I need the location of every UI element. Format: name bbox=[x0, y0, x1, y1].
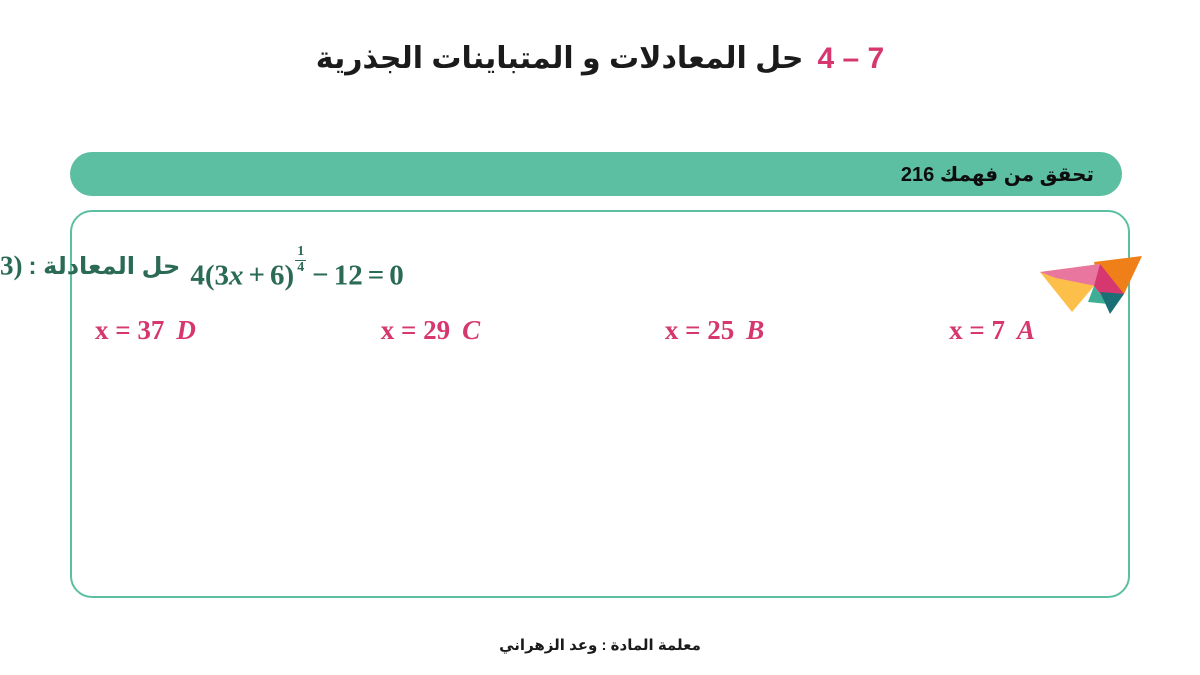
question-number: (3 bbox=[0, 250, 23, 280]
equation-variable: x bbox=[229, 259, 244, 291]
answer-choice-a-letter: A bbox=[1017, 315, 1035, 345]
answer-choice-a-value: x = 7 bbox=[949, 315, 1005, 345]
answer-choice-b-letter: B bbox=[746, 315, 764, 345]
equation-exponent-fraction: 14 bbox=[295, 245, 306, 275]
equation-close-paren: ) bbox=[285, 259, 295, 291]
question-equation: 4(3x+6)14−12=0 bbox=[190, 248, 403, 292]
page-title-text: حل المعادلات و المتباينات الجذرية bbox=[316, 42, 804, 75]
section-header-label: تحقق من فهمك 216 bbox=[901, 162, 1094, 187]
equation-constant: 12 bbox=[334, 259, 363, 291]
answer-choice-b-value: x = 25 bbox=[665, 315, 734, 345]
answer-choice-c[interactable]: x = 29C bbox=[381, 315, 480, 346]
answer-choice-c-value: x = 29 bbox=[381, 315, 450, 345]
answer-choice-a[interactable]: x = 7A bbox=[949, 315, 1035, 346]
answer-choice-d-value: x = 37 bbox=[95, 315, 164, 345]
chapter-number: 7 – 4 bbox=[817, 42, 884, 75]
page-title: 7 – 4حل المعادلات و المتباينات الجذرية bbox=[0, 40, 1200, 78]
question-line: 4(3x+6)14−12=0 حل المعادلة :(3 bbox=[0, 248, 1030, 292]
equation-right-side: 0 bbox=[389, 259, 404, 291]
equation-open-paren: ( bbox=[205, 259, 215, 291]
answer-choice-d-letter: D bbox=[176, 315, 196, 345]
answer-choice-c-letter: C bbox=[462, 315, 480, 345]
equation-minus: − bbox=[312, 259, 329, 291]
answer-choice-b[interactable]: x = 25B bbox=[665, 315, 764, 346]
exponent-denominator: 4 bbox=[295, 261, 306, 276]
equation-coefficient: 4 bbox=[190, 259, 205, 291]
footer-credit: معلمة المادة : وعد الزهراني bbox=[0, 636, 1200, 654]
equation-equals: = bbox=[368, 259, 385, 291]
answer-choices: x = 7A x = 25B x = 29C x = 37D bbox=[95, 308, 1035, 352]
exponent-numerator: 1 bbox=[295, 245, 306, 261]
section-header-bar: تحقق من فهمك 216 bbox=[70, 152, 1122, 196]
equation-inner-constant: 6 bbox=[270, 259, 285, 291]
answer-choice-d[interactable]: x = 37D bbox=[95, 315, 196, 346]
equation-inner-coefficient: 3 bbox=[215, 259, 230, 291]
equation-plus: + bbox=[249, 259, 266, 291]
question-prompt: حل المعادلة : bbox=[29, 253, 181, 280]
